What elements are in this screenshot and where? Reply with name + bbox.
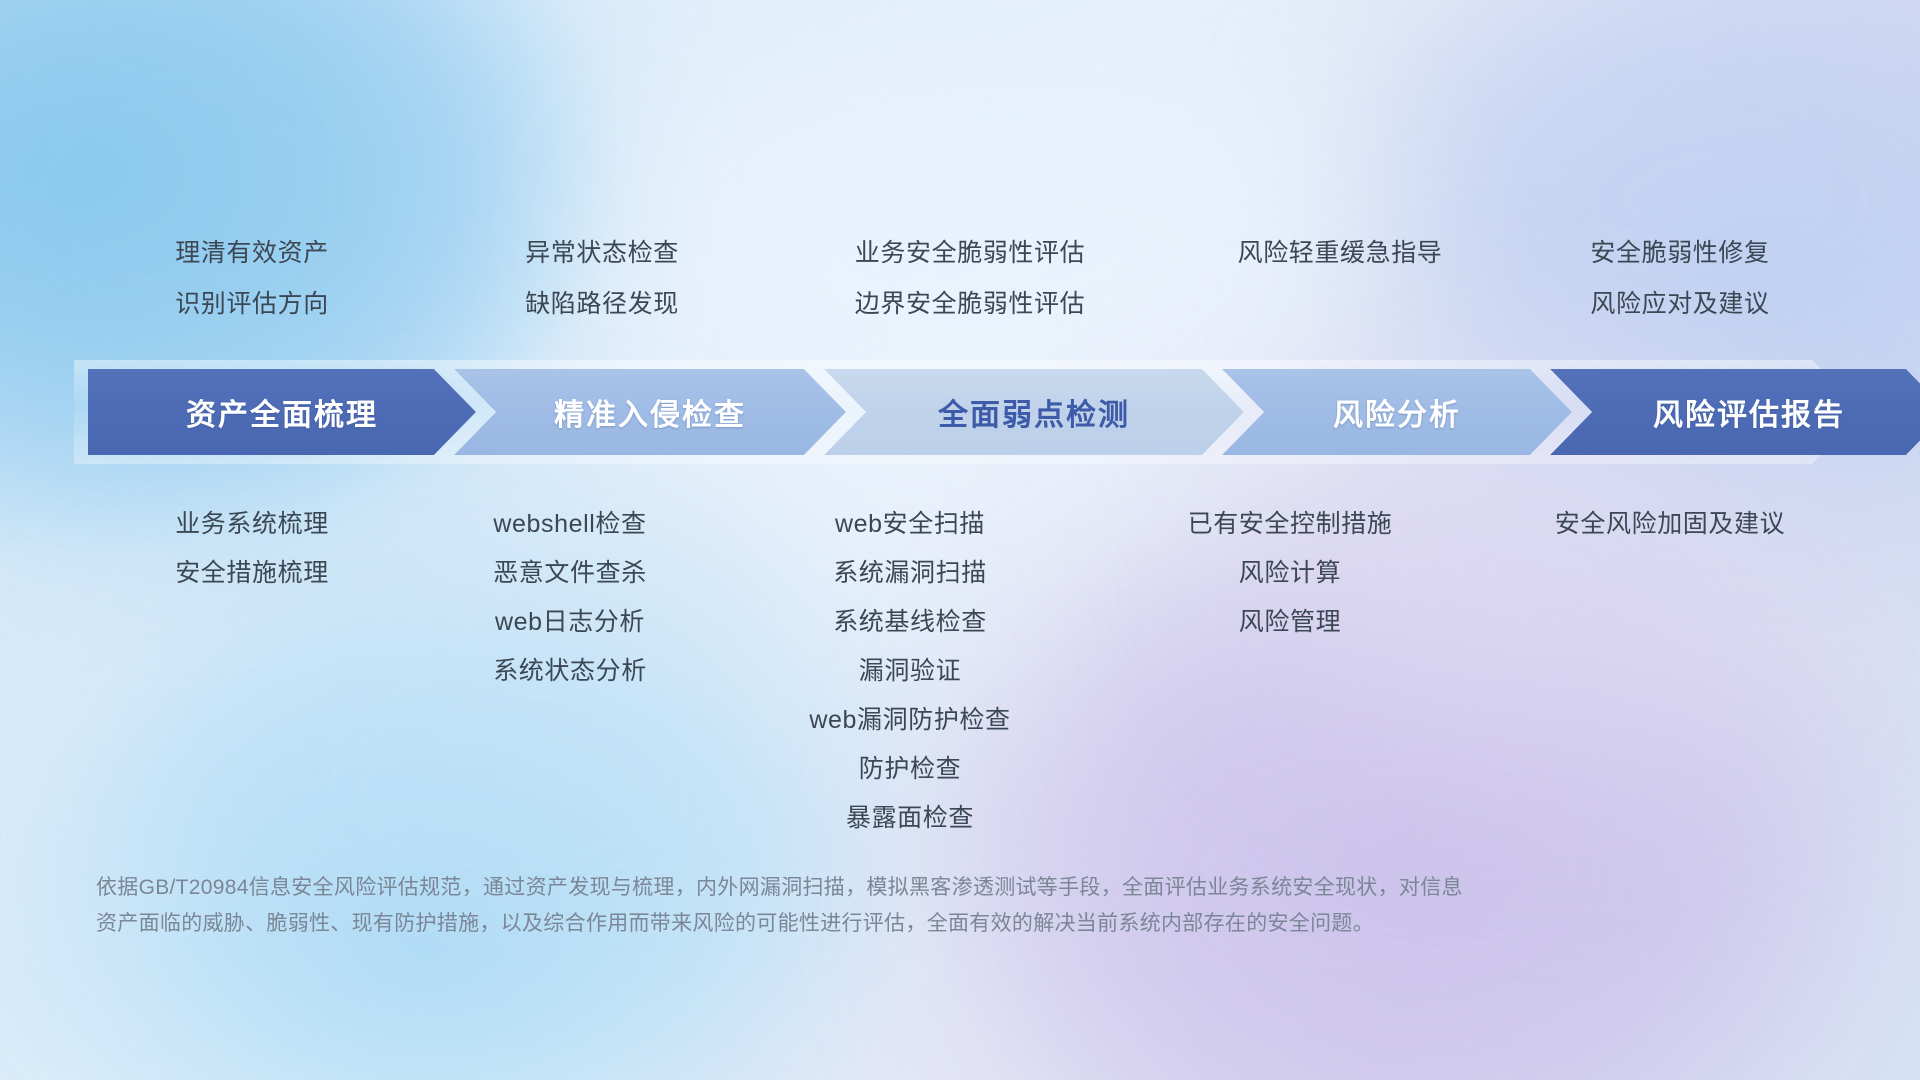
stage-banner-label: 全面弱点检测 [938,390,1130,434]
top-item: 边界安全脆弱性评估 [730,279,1210,330]
stage-banner-intrusion-check[interactable]: 精准入侵检查 [454,369,846,455]
bottom-item: 暴露面检查 [690,794,1130,843]
top-item: 风险应对及建议 [1440,279,1920,330]
bottom-item: web漏洞防护检查 [690,696,1130,745]
stage-banner-risk-report[interactable]: 风险评估报告 [1550,369,1920,455]
bottom-item: 风险管理 [1060,598,1520,647]
stage-banner-label: 风险分析 [1333,390,1461,434]
stage-banner-risk-analysis[interactable]: 风险分析 [1222,369,1572,455]
stage-bottom-items-risk-report: 安全风险加固及建议 [1420,500,1920,549]
stage-banner-label: 风险评估报告 [1653,390,1845,434]
footer-line-1: 依据GB/T20984信息安全风险评估规范，通过资产发现与梳理，内外网漏洞扫描，… [96,870,1756,906]
stage-banner-weakness-detection[interactable]: 全面弱点检测 [824,369,1244,455]
stage-banner-asset-inventory[interactable]: 资产全面梳理 [88,369,476,455]
stage-banner-label: 精准入侵检查 [554,390,746,434]
bottom-item: 防护检查 [690,745,1130,794]
footer-line-2: 资产面临的威胁、脆弱性、现有防护措施，以及综合作用而带来风险的可能性进行评估，全… [96,906,1756,942]
stage-top-items-risk-report: 安全脆弱性修复 风险应对及建议 [1440,228,1920,330]
process-banner: 资产全面梳理 精准入侵检查 全面弱点检测 风险分析 风险评估报告 [88,369,1848,455]
stage-banner-label: 资产全面梳理 [186,390,378,434]
top-item: 安全脆弱性修复 [1440,228,1920,279]
bottom-item: 风险计算 [1060,549,1520,598]
bottom-item: 安全风险加固及建议 [1420,500,1920,549]
diagram-canvas: 理清有效资产 识别评估方向 异常状态检查 缺陷路径发现 业务安全脆弱性评估 边界… [0,0,1920,1080]
footer-description: 依据GB/T20984信息安全风险评估规范，通过资产发现与梳理，内外网漏洞扫描，… [96,870,1756,942]
bottom-item: 漏洞验证 [690,647,1130,696]
